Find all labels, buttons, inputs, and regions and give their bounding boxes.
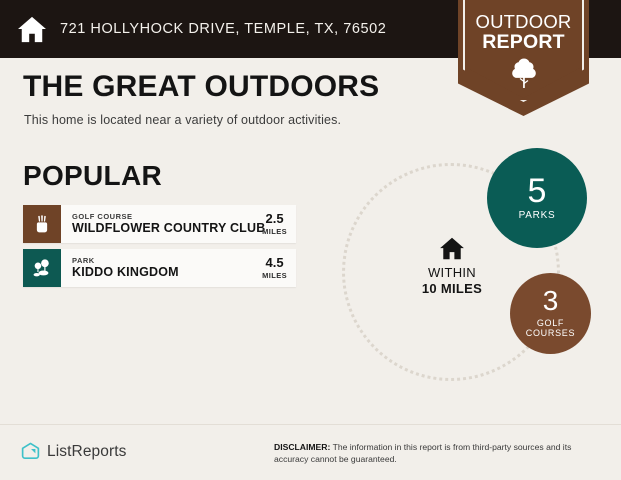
radius-label-line1: WITHIN [392, 265, 512, 281]
popular-section-heading: POPULAR [23, 160, 162, 192]
poi-distance-value: 2.5 [266, 212, 284, 226]
listreports-logo-icon [20, 441, 41, 462]
poi-distance-unit: MILES [262, 227, 287, 236]
poi-name: WILDFLOWER COUNTRY CLUB [72, 221, 253, 236]
home-icon [17, 16, 47, 43]
disclaimer: DISCLAIMER: The information in this repo… [274, 441, 604, 466]
golf-icon-tile [23, 205, 61, 243]
tree-icon [509, 57, 539, 89]
disclaimer-label: DISCLAIMER: [274, 442, 330, 452]
golf-icon [31, 213, 53, 235]
radius-diagram: WITHIN 10 MILES 5 PARKS 3 GOLF COURSES [330, 145, 610, 405]
footer-divider [0, 424, 621, 425]
radius-center-label: WITHIN 10 MILES [392, 237, 512, 298]
poi-text: PARK KIDDO KINGDOM [61, 249, 253, 287]
home-icon [439, 237, 465, 260]
park-icon [31, 257, 53, 279]
badge-title-line2: REPORT [458, 32, 589, 53]
page-subtitle: This home is located near a variety of o… [24, 113, 341, 127]
stat-circle-golf-courses[interactable]: 3 GOLF COURSES [510, 273, 591, 354]
poi-category: GOLF COURSE [72, 212, 253, 221]
poi-distance: 2.5 MILES [253, 205, 296, 243]
poi-distance-value: 4.5 [266, 256, 284, 270]
stat-label-parks: PARKS [519, 210, 556, 222]
listreports-logo[interactable]: ListReports [20, 441, 127, 462]
poi-distance: 4.5 MILES [253, 249, 296, 287]
badge-title-line1: OUTDOOR [458, 12, 589, 32]
page-title: THE GREAT OUTDOORS [23, 70, 379, 104]
stat-value-golf-courses: 3 [543, 288, 559, 315]
outdoor-report-page: 721 HOLLYHOCK DRIVE, TEMPLE, TX, 76502 O… [0, 0, 621, 480]
stat-label-golf-line1: GOLF [537, 318, 564, 328]
badge-title: OUTDOOR REPORT [458, 12, 589, 53]
poi-text: GOLF COURSE WILDFLOWER COUNTRY CLUB [61, 205, 253, 243]
property-address: 721 HOLLYHOCK DRIVE, TEMPLE, TX, 76502 [60, 21, 386, 37]
poi-distance-unit: MILES [262, 271, 287, 280]
popular-poi-list: GOLF COURSE WILDFLOWER COUNTRY CLUB 2.5 … [23, 205, 296, 293]
list-item[interactable]: GOLF COURSE WILDFLOWER COUNTRY CLUB 2.5 … [23, 205, 296, 243]
poi-category: PARK [72, 256, 253, 265]
stat-label-golf-line2: COURSES [526, 328, 575, 338]
park-icon-tile [23, 249, 61, 287]
outdoor-report-badge: OUTDOOR REPORT [458, 0, 589, 116]
stat-circle-parks[interactable]: 5 PARKS [487, 148, 587, 248]
stat-value-parks: 5 [528, 175, 547, 207]
poi-name: KIDDO KINGDOM [72, 265, 253, 280]
stat-label-golf-courses: GOLF COURSES [526, 318, 575, 339]
list-item[interactable]: PARK KIDDO KINGDOM 4.5 MILES [23, 249, 296, 287]
radius-label-line2: 10 MILES [392, 281, 512, 297]
listreports-logo-text: ListReports [47, 443, 127, 461]
